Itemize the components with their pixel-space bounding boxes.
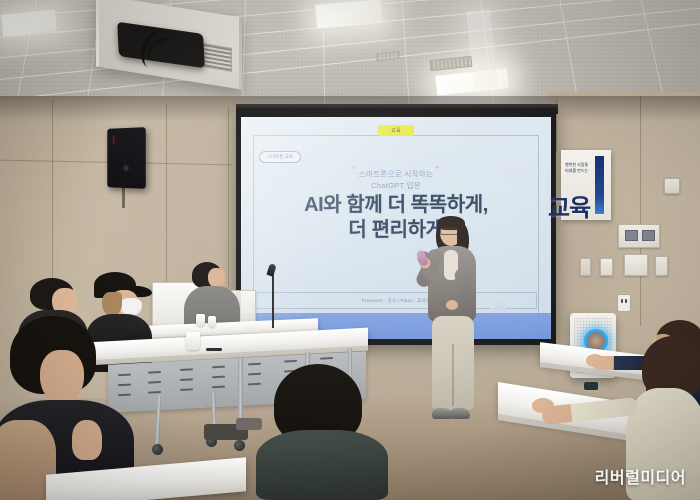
presenter-standing [416,214,486,422]
speaker-bracket [122,186,125,208]
wall-seam-vertical-2 [166,104,167,294]
wall-sign-big-text: 교육 [548,188,590,223]
projection-screen: 교육 스마트폰 교육 “ 스마트폰으로 시작하는 ” ChatGPT 입문 AI… [241,117,551,339]
wall-switch-2[interactable] [624,254,648,276]
quote-open-icon: “ [353,165,356,175]
watermark: 리버럴미디어 [595,464,686,488]
mic-stand-pole [272,272,274,328]
wall-thermostat[interactable] [664,178,680,194]
wall-switch-4[interactable] [580,258,591,276]
slide-title: AI와 함께 더 똑똑하게, 더 편리하게 [241,193,551,243]
attendee-front-center [256,364,396,500]
wall-switch-1[interactable] [600,258,613,276]
presenter-shoe-right [450,408,470,419]
wall-seam-vertical-3 [228,108,229,288]
table-caster-3 [234,440,245,451]
slide-title-line2: 더 편리하게 [241,218,551,243]
speaker-led-icon [113,135,115,144]
cup-middle-1 [186,332,200,350]
presenter-shoe-left [432,408,452,419]
photo-scene: 교육 스마트폰 교육 “ 스마트폰으로 시작하는 ” ChatGPT 입문 AI… [0,0,700,500]
quote-close-icon: ” [436,165,439,175]
wall-sign-accent-bar [595,156,604,214]
attendee-right-navy-hand [586,354,604,367]
presenter-resting-hand [446,300,458,310]
speaker-driver [123,165,129,171]
cup-back-1 [196,314,205,326]
handheld-microphone [416,249,429,267]
pen-on-table [206,348,222,351]
wall-sign-small-text: 행복한 사람들 미래를 만드는 [565,162,588,174]
cup-back-2 [208,316,216,327]
presenter-trouser-seam [452,344,454,406]
table-caster-1 [152,444,163,455]
slide-subtitle-line2: ChatGPT 입문 [371,181,421,190]
slide-top-badge: 교육 [378,125,414,136]
hair-blonde [102,292,122,316]
wall-outlet[interactable] [617,294,631,312]
wall-speaker [107,127,145,189]
wall-control-panel[interactable] [618,224,660,248]
presenter-forearm [416,249,439,282]
slide-subtitle-line1: 스마트폰으로 시작하는 [359,170,433,179]
phone-on-right-table[interactable] [584,382,598,390]
attendee-right-beige-hand [532,398,554,413]
slide-subtitle: “ 스마트폰으로 시작하는 ” ChatGPT 입문 [241,165,551,191]
slide-left-pill: 스마트폰 교육 [259,151,301,163]
attendee-front-left-hand [72,420,102,460]
wall-seam-vertical-4 [640,96,641,326]
slide-title-line1: AI와 함께 더 똑똑하게, [241,193,551,218]
wall-switch-3[interactable] [655,256,668,276]
